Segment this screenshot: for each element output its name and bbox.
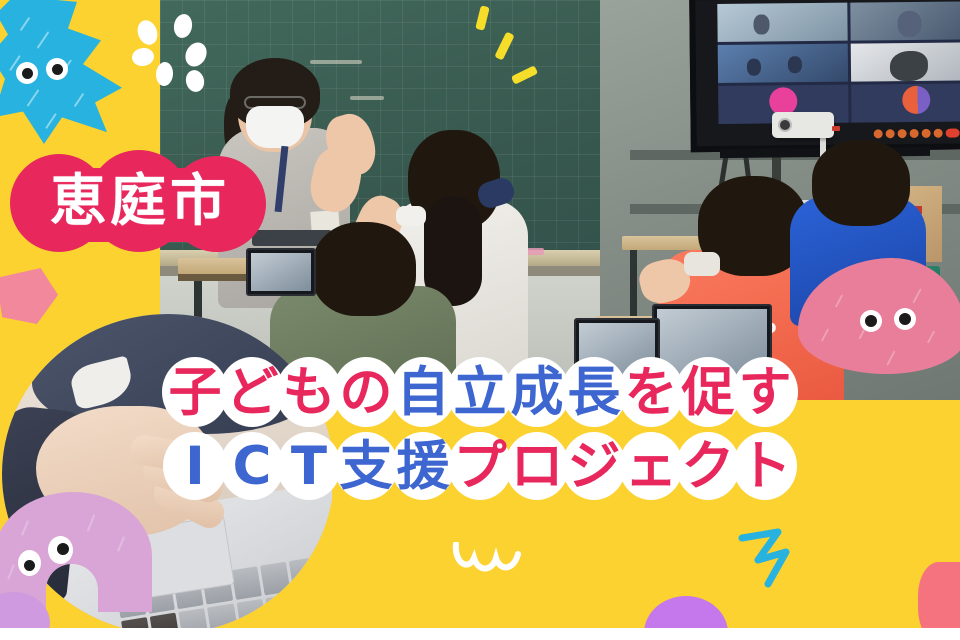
title-char: ク	[677, 430, 740, 502]
vc-tile	[718, 44, 848, 83]
cyan-zigzag-squiggle	[738, 528, 822, 590]
title-line-1: 子どもの自立成長を促す	[167, 356, 794, 428]
title-line-2: ICT支援プロジェクト	[167, 430, 794, 502]
title-char: す	[734, 356, 797, 428]
title-char: I	[164, 430, 227, 502]
camera-lens-icon	[778, 118, 792, 132]
eye-right	[48, 536, 73, 564]
title-char: ェ	[620, 430, 683, 502]
title-char: 成	[506, 356, 569, 428]
title-char: C	[221, 430, 284, 502]
title-char: 立	[449, 356, 512, 428]
title-char: も	[278, 356, 341, 428]
face-mask	[684, 252, 720, 276]
white-wave-squiggle	[452, 542, 524, 576]
eye-right	[46, 58, 68, 80]
title-char: 援	[392, 430, 455, 502]
title-char: ど	[221, 356, 284, 428]
bottom-white-strip	[0, 628, 960, 640]
laptop-screen	[246, 248, 316, 296]
vc-tile	[850, 1, 960, 40]
more-icon[interactable]	[934, 128, 943, 137]
title-char: ジ	[563, 430, 626, 502]
title-char: 自	[392, 356, 455, 428]
vc-tile	[717, 3, 847, 42]
title-char: 支	[335, 430, 398, 502]
vc-tile	[851, 42, 960, 81]
chalk-mark	[310, 60, 362, 64]
eye-left	[18, 550, 41, 576]
vc-tile	[851, 83, 960, 122]
city-badge: 恵庭市	[8, 150, 272, 254]
face-mask	[246, 106, 304, 148]
title-char: 促	[677, 356, 740, 428]
mic-icon[interactable]	[874, 129, 883, 138]
camera-indicator	[832, 126, 840, 131]
title-char: プ	[449, 430, 512, 502]
eye-left	[16, 62, 38, 84]
face-mask	[396, 206, 426, 226]
student-head	[312, 222, 416, 316]
title-char: の	[335, 356, 398, 428]
participants-icon[interactable]	[922, 128, 931, 137]
laptop-display	[251, 253, 311, 291]
title-char: 子	[164, 356, 227, 428]
leave-call-icon[interactable]	[946, 128, 960, 137]
banner-root: JAP	[0, 0, 960, 640]
chalk-mark	[350, 96, 384, 100]
title-char: T	[278, 430, 341, 502]
chat-icon[interactable]	[910, 128, 919, 137]
student-head	[812, 140, 910, 226]
main-title: 子どもの自立成長を促す ICT支援プロジェクト	[0, 356, 960, 502]
title-char: 長	[563, 356, 626, 428]
title-char: を	[620, 356, 683, 428]
share-icon[interactable]	[898, 129, 907, 138]
title-char: ト	[734, 430, 797, 502]
camera-icon[interactable]	[886, 129, 895, 138]
city-badge-label: 恵庭市	[50, 174, 230, 230]
eye-right	[894, 308, 916, 330]
video-conference-screen	[717, 0, 960, 124]
title-char: ロ	[506, 430, 569, 502]
eye-left	[860, 310, 882, 332]
